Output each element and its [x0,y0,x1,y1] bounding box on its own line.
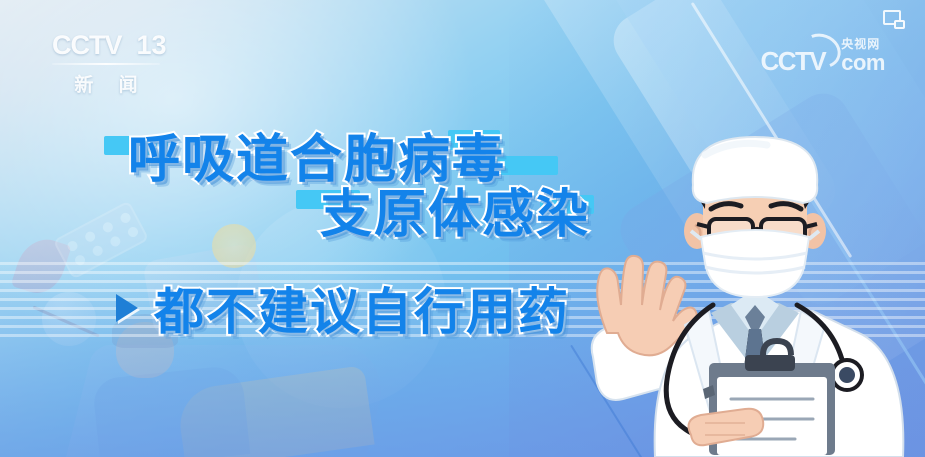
headline-line-3: 都不建议自行用药 [154,272,570,344]
headline-line-2: 支原体感染 [320,172,590,247]
headline-line-3-group: 都不建议自行用药 [116,272,570,344]
play-triangle-icon [116,294,138,322]
face-mask [691,230,819,297]
broadcast-frame: CCTV 13 新 闻 CCTV 央视网 com 呼吸道合胞病毒 支原体感染 [0,0,925,457]
clipboard-clip [745,355,795,371]
doctor-illustration [585,127,925,457]
doctor-head [684,137,826,297]
